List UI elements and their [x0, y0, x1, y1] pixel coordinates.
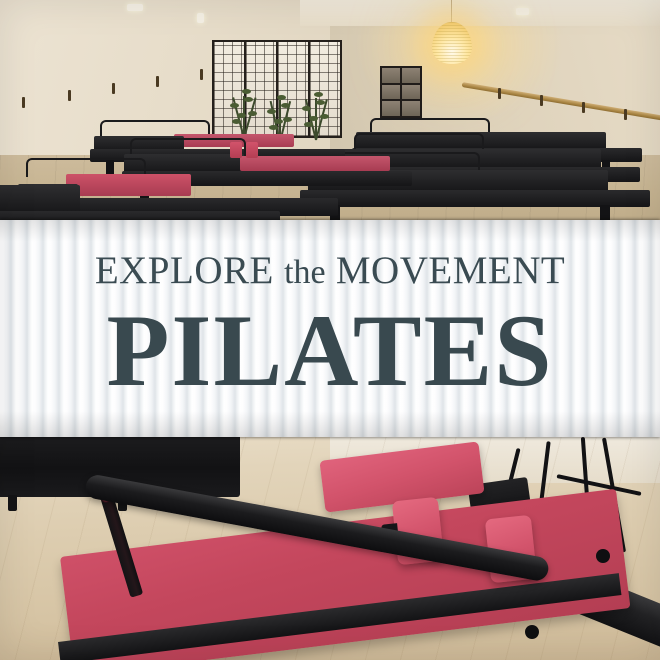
shoulder-block: [246, 142, 258, 158]
storage-basket: [382, 85, 400, 100]
reformer-wheel: [525, 625, 539, 639]
storage-basket: [382, 68, 400, 83]
title-band: EXPLORE the MOVEMENT PILATES: [0, 220, 660, 437]
storage-basket: [402, 68, 420, 83]
studio-wide-photo: [0, 0, 660, 225]
ceiling-strip: [300, 0, 660, 26]
barre-bracket: [582, 102, 585, 113]
poster-tagline: EXPLORE the MOVEMENT: [95, 248, 565, 293]
pendant-lamp: [432, 22, 472, 64]
tagline-word-the: the: [284, 254, 326, 291]
barre-bracket: [156, 76, 159, 87]
poster-title: PILATES: [106, 299, 553, 404]
ceiling-light-icon: [127, 4, 143, 11]
storage-cube-shelf: [380, 66, 422, 118]
barre-bracket: [200, 69, 203, 80]
pilates-poster: EXPLORE the MOVEMENT PILATES: [0, 0, 660, 660]
tagline-word-movement: MOVEMENT: [336, 249, 565, 292]
barre-bracket: [112, 83, 115, 94]
pilates-reformer: [0, 185, 290, 225]
storage-basket: [402, 85, 420, 100]
reformer-wheel: [596, 549, 610, 563]
barre-bracket: [68, 90, 71, 101]
tagline-word-explore: EXPLORE: [95, 249, 274, 292]
storage-basket: [402, 101, 420, 116]
barre-bracket: [22, 97, 25, 108]
barre-bracket: [498, 88, 501, 99]
storage-basket: [382, 101, 400, 116]
ceiling-light-icon: [197, 13, 204, 23]
shoulder-block: [230, 142, 242, 158]
reformer-closeup-photo: [0, 437, 660, 660]
barre-bracket: [540, 95, 543, 106]
ceiling-light-icon: [516, 8, 529, 15]
